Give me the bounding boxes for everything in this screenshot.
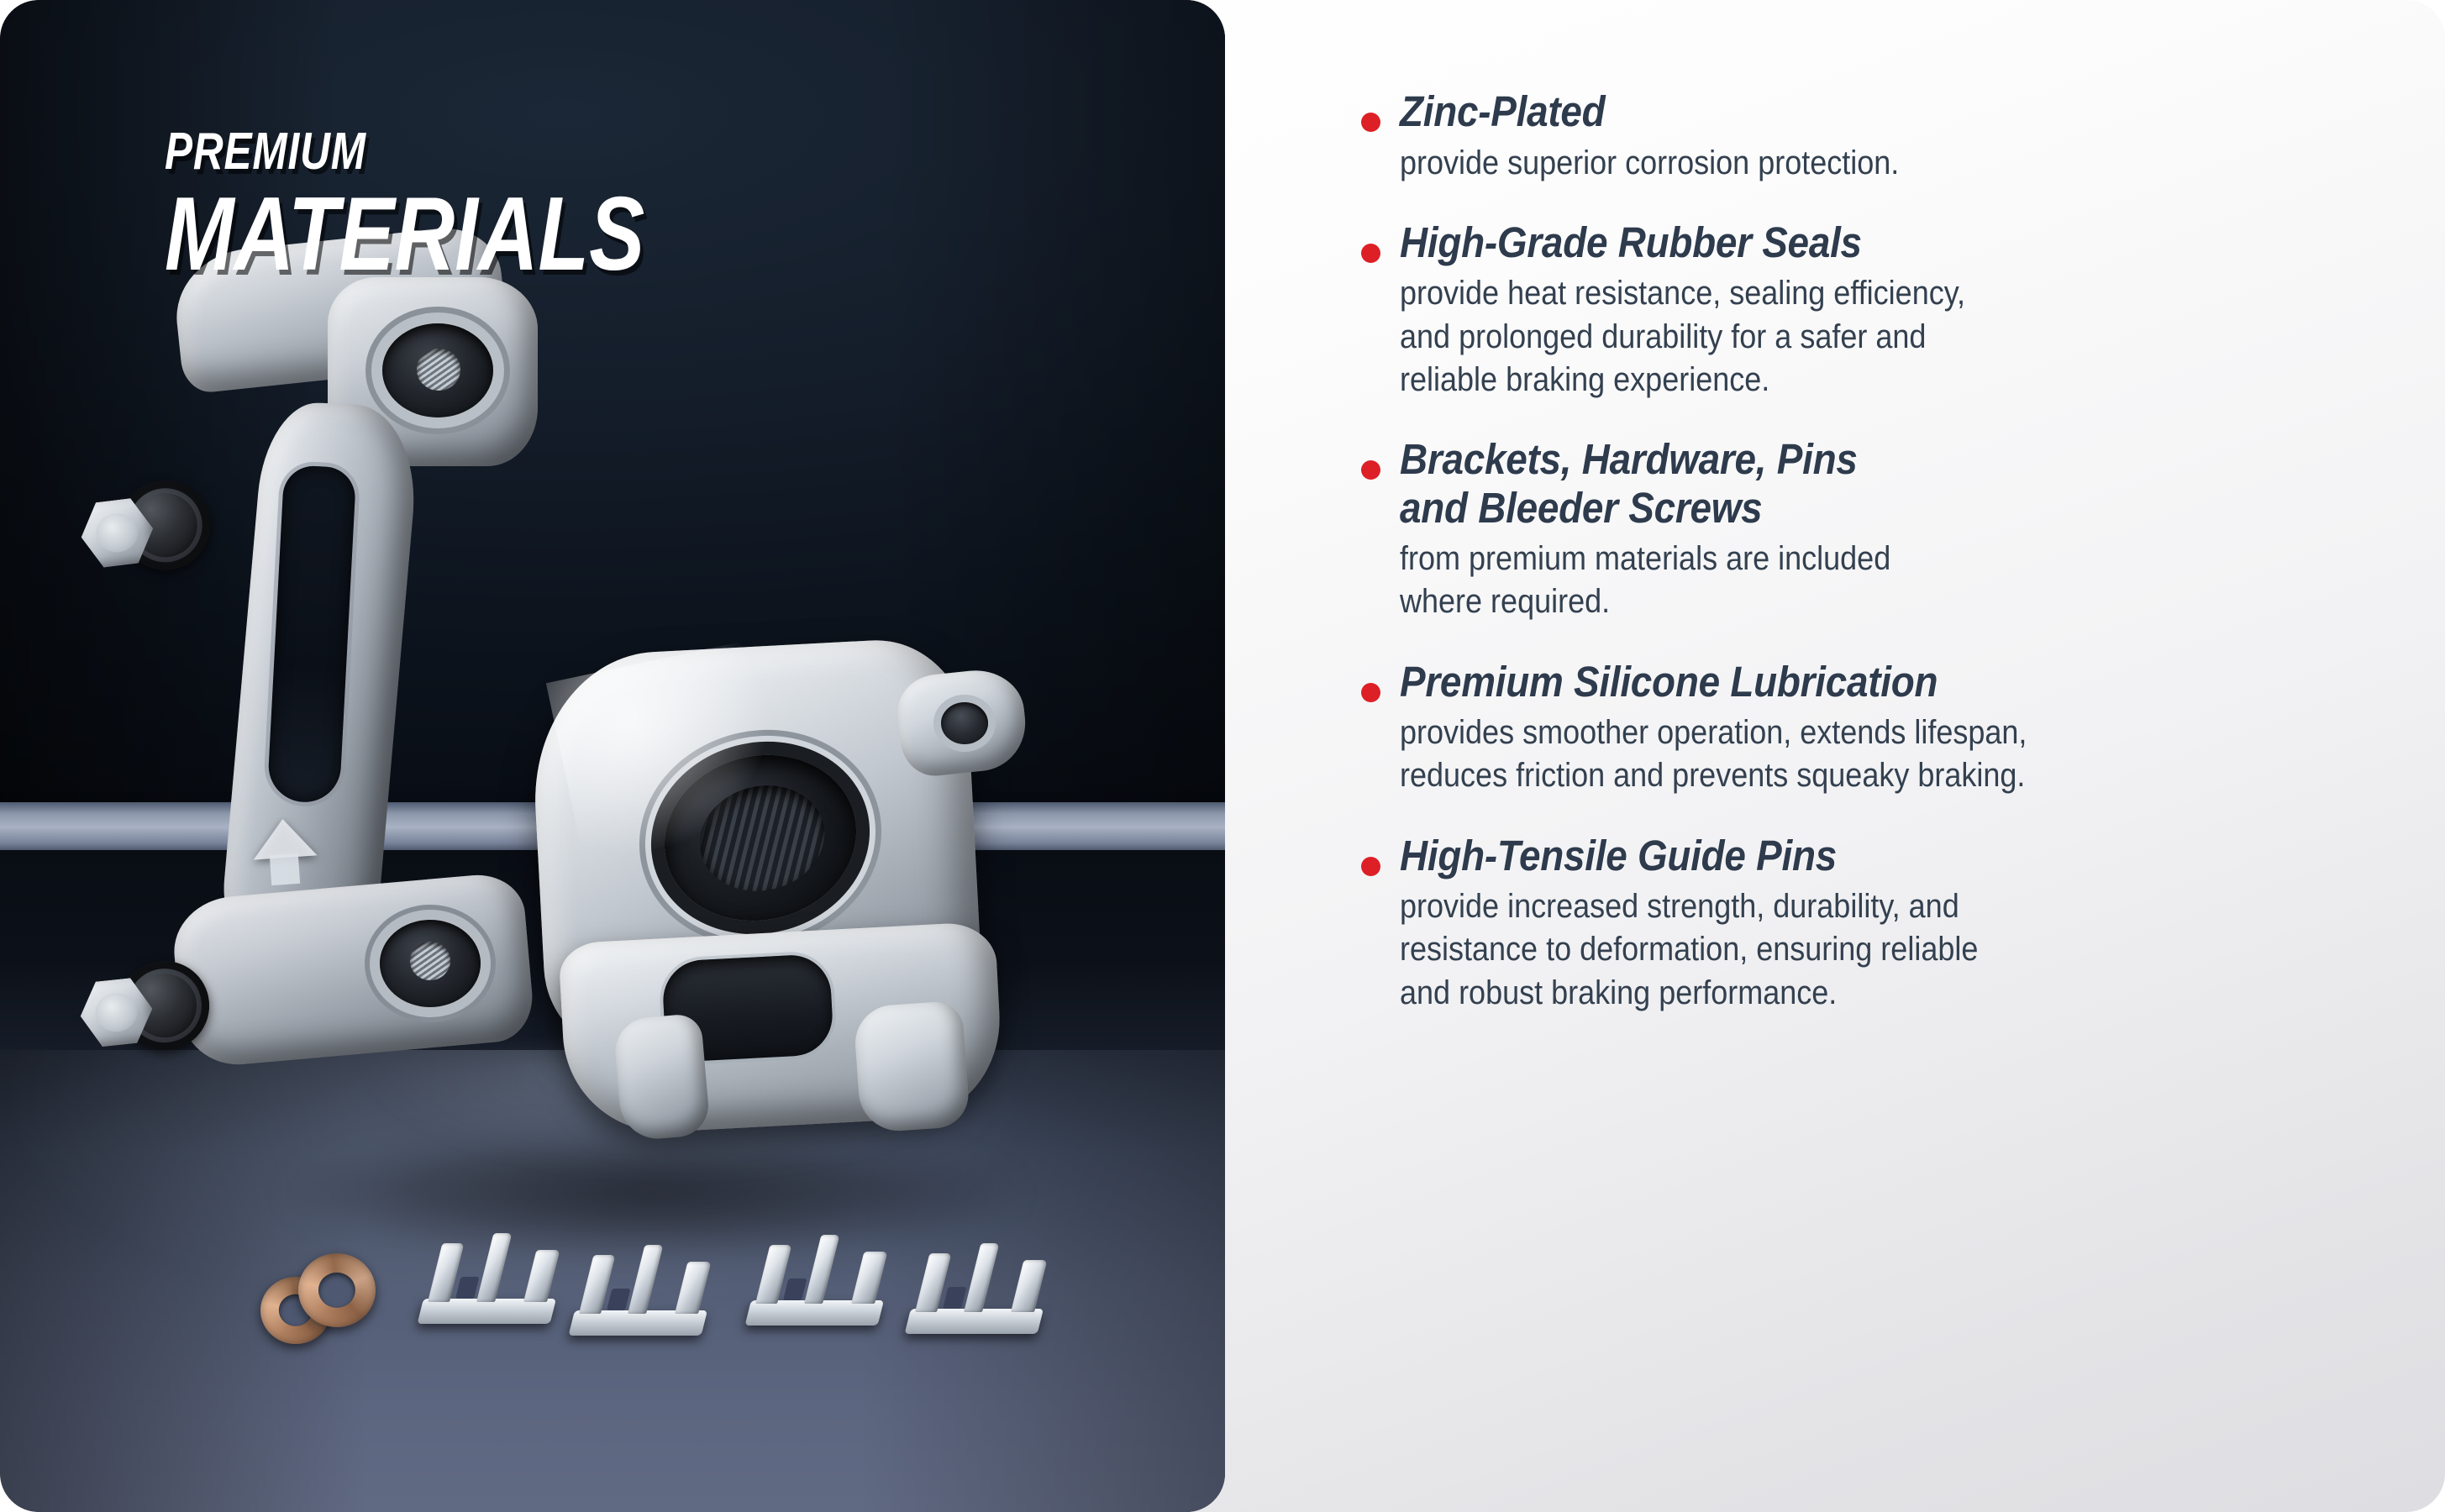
clip-notch <box>783 1278 807 1300</box>
clip-tab <box>476 1233 512 1302</box>
clip-base-plate <box>905 1309 1044 1334</box>
feature-body-line: where required. <box>1400 580 2288 623</box>
clip-tab <box>851 1252 887 1304</box>
clip-tab <box>804 1235 839 1304</box>
bracket-direction-arrow-icon <box>250 816 317 859</box>
bracket-lower-foot <box>170 871 536 1069</box>
title-block: PREMIUM MATERIALS <box>165 126 765 287</box>
feature-body: from premium materials are included wher… <box>1400 538 2288 623</box>
feature-heading: Brackets, Hardware, Pins and Bleeder Scr… <box>1400 435 2288 532</box>
caliper-finger-right <box>853 1000 970 1134</box>
bullet-dot-icon <box>1361 244 1380 263</box>
bracket-upper-thread <box>417 349 460 391</box>
bullet-dot-icon <box>1361 683 1380 702</box>
abutment-clip-1 <box>418 1233 573 1324</box>
feature-item-brackets-hardware: Brackets, Hardware, Pins and Bleeder Scr… <box>1361 435 2386 624</box>
feature-heading-line: and Bleeder Screws <box>1400 484 1762 532</box>
caliper-mounting-bracket <box>50 214 571 1130</box>
feature-item-guide-pins: High-Tensile Guide Pins provide increase… <box>1361 832 2386 1015</box>
caliper-finger-left <box>613 1013 711 1142</box>
feature-body: provide increased strength, durability, … <box>1400 885 2288 1015</box>
clip-base-plate <box>569 1310 707 1336</box>
feature-heading-line: Brackets, Hardware, Pins <box>1400 435 1858 483</box>
feature-body-line: and robust braking performance. <box>1400 972 2288 1015</box>
feature-heading: Zinc-Plated <box>1400 87 2288 136</box>
feature-body-line: provide superior corrosion protection. <box>1400 142 2288 185</box>
clip-tab <box>1011 1260 1047 1312</box>
abutment-clip-3 <box>745 1235 901 1326</box>
clip-notch <box>455 1277 479 1299</box>
product-photo-panel: PREMIUM MATERIALS <box>0 0 1225 1512</box>
caliper-ear-bolt-hole <box>941 702 988 744</box>
infographic-card: PREMIUM MATERIALS Zinc-Plated provide su… <box>0 0 2445 1512</box>
feature-body: provide superior corrosion protection. <box>1400 142 2288 185</box>
title-main: MATERIALS <box>165 181 644 287</box>
clip-tab <box>675 1262 711 1314</box>
feature-body-line: provide increased strength, durability, … <box>1400 885 2288 928</box>
bullet-dot-icon <box>1361 113 1380 132</box>
clip-base-plate <box>418 1299 556 1324</box>
feature-body-line: from premium materials are included <box>1400 538 2288 580</box>
feature-list: Zinc-Plated provide superior corrosion p… <box>1361 87 2386 1015</box>
clip-tab <box>628 1245 663 1314</box>
feature-body-line: provides smoother operation, extends lif… <box>1400 711 2288 754</box>
feature-heading: High-Tensile Guide Pins <box>1400 832 2288 880</box>
bullet-dot-icon <box>1361 857 1380 876</box>
feature-heading: High-Grade Rubber Seals <box>1400 218 2288 267</box>
copper-washer-2 <box>298 1253 376 1327</box>
brake-caliper-housing <box>504 622 1176 1226</box>
feature-body-line: reduces friction and prevents squeaky br… <box>1400 754 2288 797</box>
title-eyebrow: PREMIUM <box>165 126 644 178</box>
clip-notch <box>943 1287 966 1309</box>
feature-body-line: provide heat resistance, sealing efficie… <box>1400 272 2288 315</box>
clip-notch <box>607 1289 630 1310</box>
clip-tab <box>523 1250 560 1302</box>
feature-body-line: resistance to deformation, ensuring reli… <box>1400 928 2288 971</box>
feature-body: provides smoother operation, extends lif… <box>1400 711 2288 797</box>
feature-body: provide heat resistance, sealing efficie… <box>1400 272 2288 402</box>
feature-item-rubber-seals: High-Grade Rubber Seals provide heat res… <box>1361 218 2386 402</box>
feature-item-zinc-plated: Zinc-Plated provide superior corrosion p… <box>1361 87 2386 185</box>
feature-body-line: and prolonged durability for a safer and <box>1400 316 2288 359</box>
clip-base-plate <box>745 1300 884 1326</box>
feature-item-silicone-lubrication: Premium Silicone Lubrication provides sm… <box>1361 658 2386 798</box>
feature-body-line: reliable braking experience. <box>1400 359 2288 402</box>
abutment-clip-4 <box>905 1243 1060 1334</box>
bullet-dot-icon <box>1361 460 1380 480</box>
abutment-clip-2 <box>569 1245 724 1336</box>
bracket-direction-arrow-stem <box>270 853 300 885</box>
clip-tab <box>964 1243 999 1312</box>
feature-heading: Premium Silicone Lubrication <box>1400 658 2288 706</box>
bracket-lower-thread <box>410 942 450 980</box>
